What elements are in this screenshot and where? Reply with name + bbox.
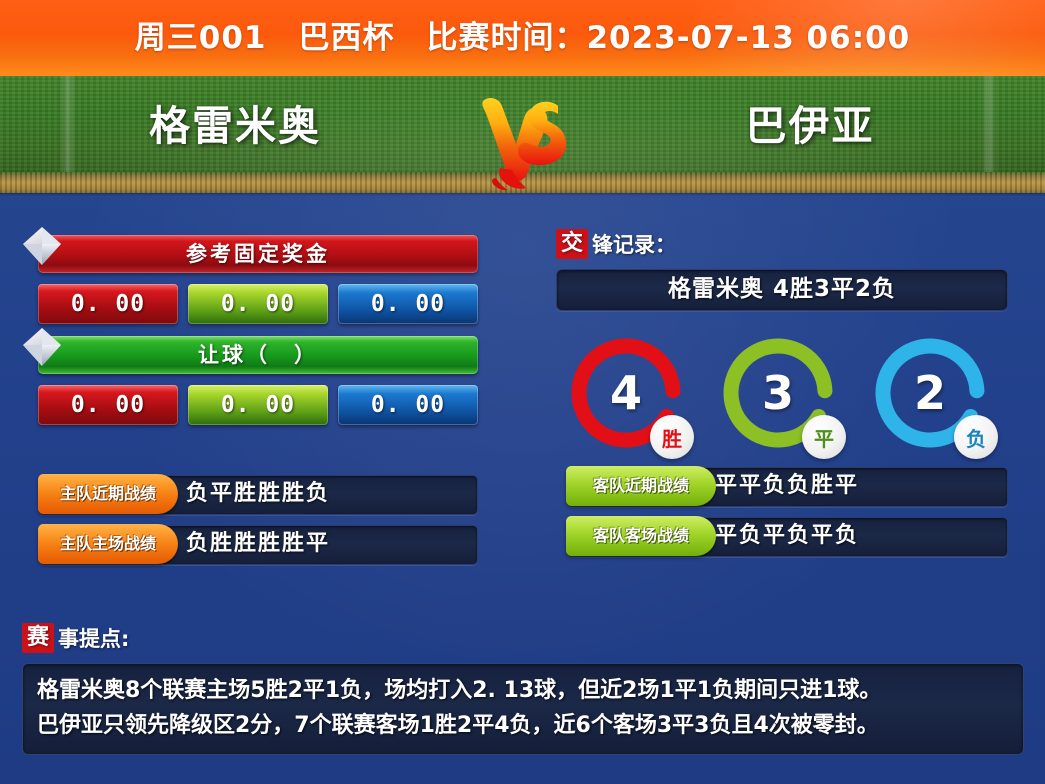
away-team-name: 巴伊亚 [575,76,1045,172]
handicap-odds-away[interactable]: 0. 00 [338,385,478,425]
away-away-form-row: 平负平负平负 客队客场战绩 [556,517,1008,555]
away-recent-form-tab: 客队近期战绩 [566,466,716,506]
analysis-line-2: 巴伊亚只领先降级区2分，7个联赛客场1胜2平4负，近6个客场3平3负且4次被零封… [37,708,1009,743]
analysis-badge-chip: 赛 [22,623,54,653]
h2h-ring-win-badge: 胜 [650,415,694,459]
away-away-form-tab: 客队客场战绩 [566,516,716,556]
fixed-odds-home[interactable]: 0. 00 [38,284,178,324]
h2h-ring-draw-badge: 平 [802,415,846,459]
h2h-ring-draw-label: 平 [814,423,834,452]
handicap-odds-away-value: 0. 00 [338,385,478,425]
h2h-section-badge: 交 锋记录： [556,228,1008,260]
away-recent-form-label: 客队近期战绩 [566,466,716,506]
analysis-line-1: 格雷米奥8个联赛主场5胜2平1负，场均打入2. 13球，但近2场1平1负期间只进… [37,673,1009,708]
handicap-header: 让球（ ） [38,336,478,374]
h2h-ring-loss-label: 负 [966,423,986,452]
fixed-odds-row: 0. 00 0. 00 0. 00 [38,284,478,324]
h2h-ring-draw: 3 平 [716,331,840,455]
h2h-summary-bar: 格雷米奥 4胜3平2负 [556,269,1008,311]
home-recent-form-label: 主队近期战绩 [38,474,178,514]
analysis-section: 赛 事提点: 格雷米奥8个联赛主场5胜2平1负，场均打入2. 13球，但近2场1… [22,622,1024,755]
fixed-odds-home-value: 0. 00 [38,284,178,324]
handicap-odds-draw-value: 0. 00 [188,385,328,425]
header-bar: 周三001 巴西杯 比赛时间：2023-07-13 06:00 [0,0,1045,76]
h2h-ring-win: 4 胜 [564,331,688,455]
h2h-ring-win-label: 胜 [662,423,682,452]
handicap-odds-home[interactable]: 0. 00 [38,385,178,425]
handicap-odds-row: 0. 00 0. 00 0. 00 [38,385,478,425]
match-preview-page: 周三001 巴西杯 比赛时间：2023-07-13 06:00 格雷米奥 巴伊亚 [0,0,1045,784]
page-title: 周三001 巴西杯 比赛时间：2023-07-13 06:00 [0,0,1045,76]
fixed-odds-draw[interactable]: 0. 00 [188,284,328,324]
fixed-odds-title: 参考固定奖金 [38,235,478,273]
vs-icon [466,78,576,194]
home-home-form-row: 负胜胜胜胜平 主队主场战绩 [38,525,478,563]
h2h-rings: 4 胜 3 平 2 负 [556,325,1008,455]
h2h-badge-text: 锋记录： [592,229,676,259]
analysis-section-badge: 赛 事提点: [22,622,1024,654]
diamond-icon [20,325,64,369]
home-home-form-label: 主队主场战绩 [38,524,178,564]
fixed-odds-draw-value: 0. 00 [188,284,328,324]
h2h-badge-chip: 交 [556,229,588,259]
home-recent-form-tab: 主队近期战绩 [38,474,178,514]
away-away-form-label: 客队客场战绩 [566,516,716,556]
home-team-name: 格雷米奥 [0,76,470,172]
odds-column: 参考固定奖金 0. 00 0. 00 0. 00 让球（ ） [38,235,478,575]
handicap-title: 让球（ ） [38,336,478,374]
h2h-ring-loss-badge: 负 [954,415,998,459]
fixed-odds-header: 参考固定奖金 [38,235,478,273]
h2h-ring-loss: 2 负 [868,331,992,455]
analysis-badge-text: 事提点: [58,623,129,653]
handicap-odds-home-value: 0. 00 [38,385,178,425]
analysis-box: 格雷米奥8个联赛主场5胜2平1负，场均打入2. 13球，但近2场1平1负期间只进… [22,663,1024,755]
home-recent-form-row: 负平胜胜胜负 主队近期战绩 [38,475,478,513]
away-recent-form-row: 平平负负胜平 客队近期战绩 [556,467,1008,505]
h2h-summary-text: 格雷米奥 4胜3平2负 [557,270,1007,308]
handicap-odds-draw[interactable]: 0. 00 [188,385,328,425]
diamond-icon [20,224,64,268]
fixed-odds-away-value: 0. 00 [338,284,478,324]
home-home-form-tab: 主队主场战绩 [38,524,178,564]
h2h-column: 交 锋记录： 格雷米奥 4胜3平2负 4 胜 3 [556,228,1008,567]
fixed-odds-away[interactable]: 0. 00 [338,284,478,324]
